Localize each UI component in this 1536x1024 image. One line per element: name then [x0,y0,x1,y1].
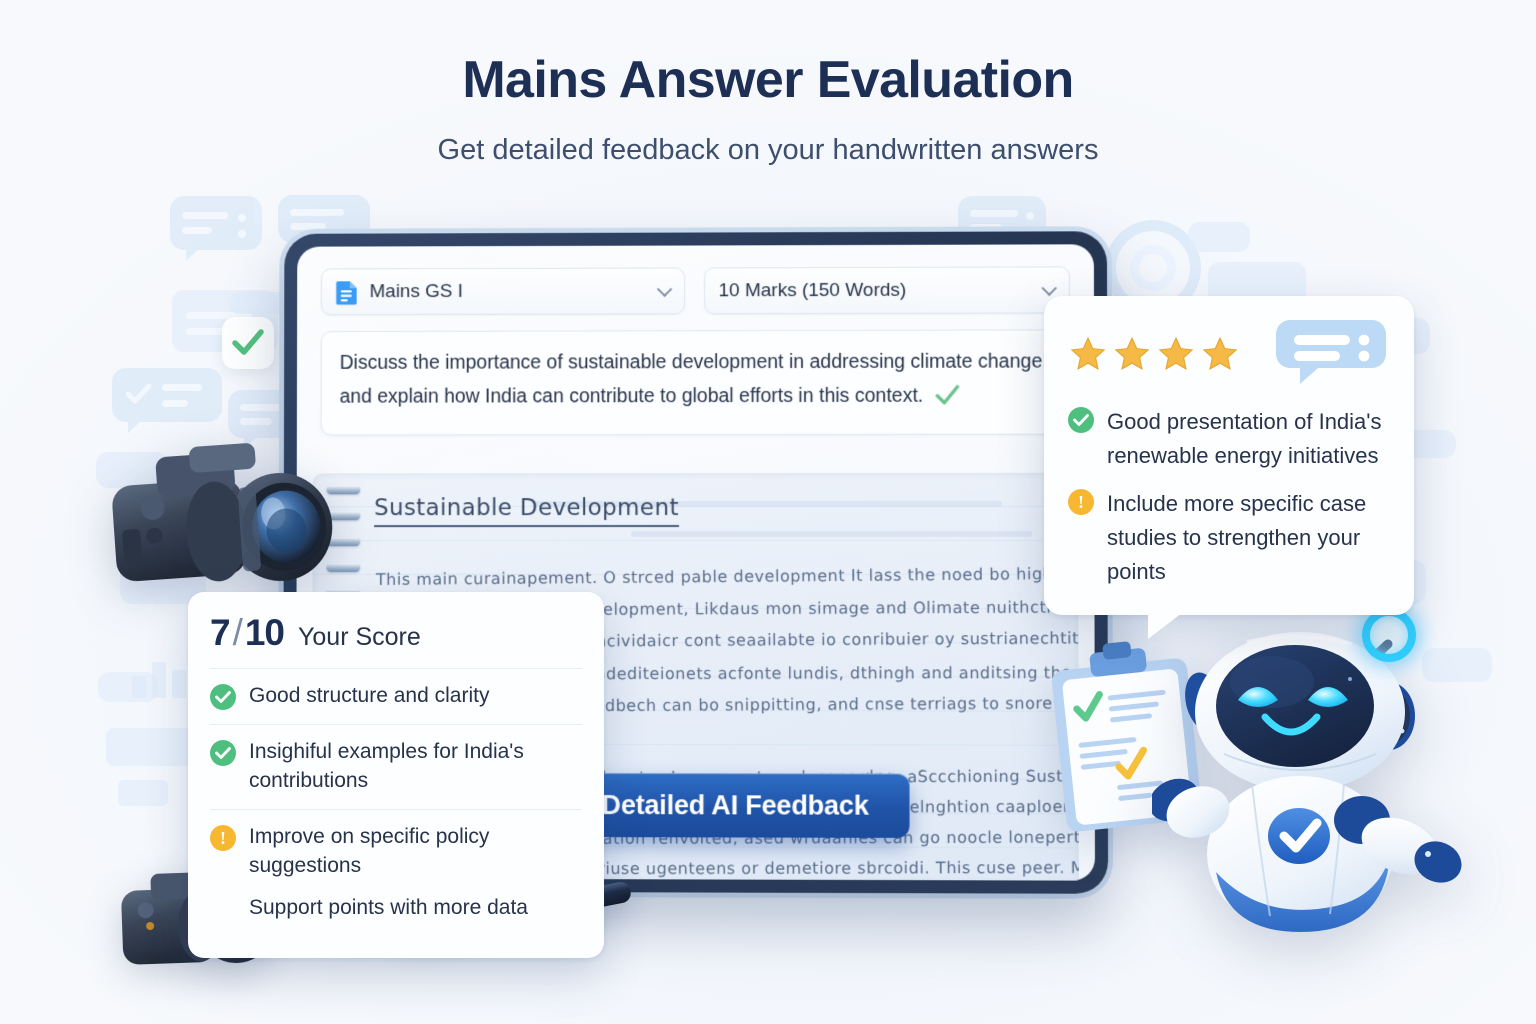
rating-row [1068,318,1390,389]
chevron-down-icon [656,281,672,297]
score-max: 10 [245,612,284,653]
paper-select-value: Mains GS I [370,281,463,303]
page-title: Mains Answer Evaluation [0,50,1536,110]
bg-card [1188,222,1250,252]
question-text-wrap: Discuss the importance of sustainable de… [340,346,1051,418]
paper-select[interactable]: Mains GS I [321,267,685,315]
amber-warning-icon: ! [1068,489,1094,515]
star-icon [1068,335,1108,373]
feedback-text: Improve on specific policy suggestions [249,823,582,881]
feedback-text: Good structure and clarity [249,682,489,711]
ai-robot-mascot [1152,604,1482,934]
bg-chat-bubble [170,196,262,250]
handwritten-line: seriuse ugenteens or demetiore sbrcoidi.… [579,858,1079,878]
green-check-icon [1068,407,1094,433]
feedback-text: Insighiful examples for India's contribu… [249,738,582,796]
selector-row: Mains GS I 10 Marks (150 Words) [321,266,1070,315]
faded-text-line [631,531,1032,537]
marks-select-value: 10 Marks (150 Words) [719,279,907,301]
list-item: Good structure and clarity [210,668,582,724]
list-item: Insighiful examples for India's contribu… [210,724,582,809]
bg-card [98,672,158,702]
page-header: Mains Answer Evaluation Get detailed fee… [0,0,1536,167]
answer-heading: Sustainable Development [374,495,679,527]
list-item: ! Include more specific case studies to … [1068,487,1390,589]
bg-card [172,290,278,352]
star-rating [1068,335,1240,373]
score-label: Your Score [298,623,421,652]
green-check-badge [222,317,274,369]
bg-card [118,780,168,806]
score-number: 7 [210,612,230,653]
green-check-icon [936,383,960,417]
feedback-text: Support points with more data [249,894,528,923]
bg-card [228,292,292,314]
list-item: Support points with more data [210,894,582,936]
score-card: 7/10 Your Score Good structure and clari… [188,592,604,958]
score-value: 7/10 [210,612,284,654]
question-box: Discuss the importance of sustainable de… [321,329,1070,435]
page-subtitle: Get detailed feedback on your handwritte… [0,134,1536,167]
green-check-icon [210,740,236,766]
hero-illustration: Mains Answer Evaluation Get detailed fee… [0,0,1536,1024]
marks-select[interactable]: 10 Marks (150 Words) [704,266,1070,314]
green-check-icon [210,684,236,710]
score-header: 7/10 Your Score [210,612,582,668]
feedback-text: Include more specific case studies to st… [1107,487,1390,589]
star-icon [1112,335,1152,373]
amber-warning-icon: ! [210,825,236,851]
document-icon [336,279,359,305]
score-separator: / [233,612,242,653]
chevron-down-icon [1041,280,1057,296]
star-icon [1156,335,1196,373]
antenna-glow-ring [1362,608,1416,662]
bg-chat-bubble-check [112,368,222,422]
ai-feedback-bubble: Good presentation of India's renewable e… [1044,296,1414,615]
list-item: ! Improve on specific policy suggestions [210,809,582,894]
feedback-text: Good presentation of India's renewable e… [1107,405,1390,473]
star-icon [1200,335,1240,373]
cta-label: Detailed AI Feedback [602,790,869,822]
list-item: Good presentation of India's renewable e… [1068,405,1390,473]
chat-bubble-icon [1272,318,1390,389]
